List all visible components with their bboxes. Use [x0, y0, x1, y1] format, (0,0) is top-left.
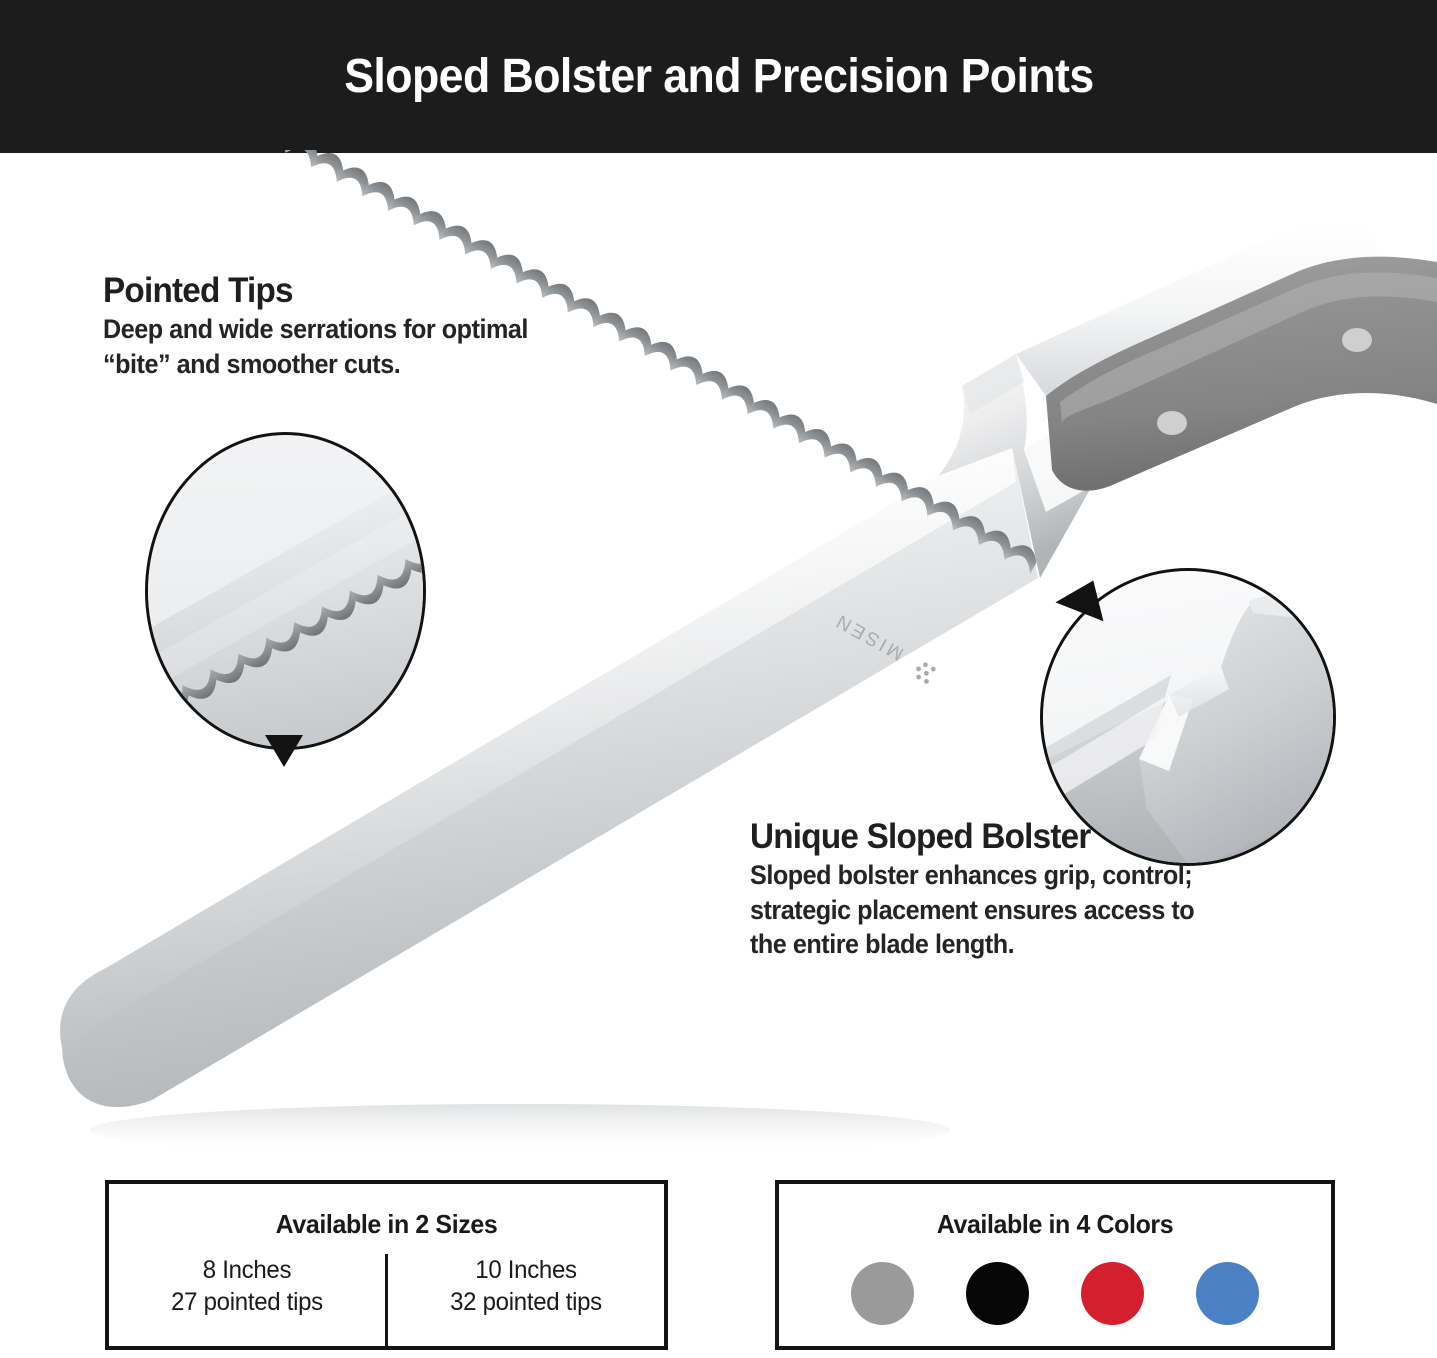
magnifier-serrations-view	[148, 435, 423, 747]
size-label: 8 Inches	[141, 1254, 352, 1286]
handle-rivet	[1342, 328, 1372, 352]
callout-sloped-bolster: Unique Sloped Bolster Sloped bolster enh…	[750, 818, 1220, 962]
sizes-row: 8 Inches 27 pointed tips 10 Inches 32 po…	[109, 1254, 664, 1346]
available-sizes-title: Available in 2 Sizes	[120, 1209, 653, 1240]
color-swatch-blue[interactable]	[1196, 1262, 1259, 1325]
header-banner: Sloped Bolster and Precision Points	[0, 0, 1437, 153]
size-tips: 27 pointed tips	[141, 1286, 352, 1318]
callout-sloped-bolster-body: Sloped bolster enhances grip, control; s…	[750, 858, 1197, 961]
page-title: Sloped Bolster and Precision Points	[344, 49, 1093, 104]
knife-shadow	[90, 1104, 950, 1156]
available-colors-box: Available in 4 Colors	[775, 1180, 1335, 1350]
callout-pointed-tips-heading: Pointed Tips	[103, 272, 597, 309]
callout-sloped-bolster-heading: Unique Sloped Bolster	[750, 818, 1197, 855]
sizes-divider	[385, 1254, 388, 1346]
magnifier-serrations-pointer	[265, 735, 303, 767]
handle-rivet	[1157, 411, 1187, 435]
available-colors-title: Available in 4 Colors	[790, 1209, 1320, 1240]
size-label: 10 Inches	[420, 1254, 631, 1286]
color-swatch-gray[interactable]	[851, 1262, 914, 1325]
callout-pointed-tips: Pointed Tips Deep and wide serrations fo…	[103, 272, 623, 381]
size-option-8in: 8 Inches 27 pointed tips	[141, 1254, 352, 1346]
color-swatch-black[interactable]	[966, 1262, 1029, 1325]
size-option-10in: 10 Inches 32 pointed tips	[420, 1254, 631, 1346]
color-swatch-red[interactable]	[1081, 1262, 1144, 1325]
color-swatch-row	[779, 1262, 1331, 1325]
available-sizes-box: Available in 2 Sizes 8 Inches 27 pointed…	[105, 1180, 668, 1350]
magnifier-serrations	[145, 432, 426, 750]
size-tips: 32 pointed tips	[420, 1286, 631, 1318]
callout-pointed-tips-body: Deep and wide serrations for optimal “bi…	[103, 312, 597, 381]
logo-dots	[912, 660, 937, 685]
infographic-root: Sloped Bolster and Precision Points	[0, 0, 1437, 1358]
